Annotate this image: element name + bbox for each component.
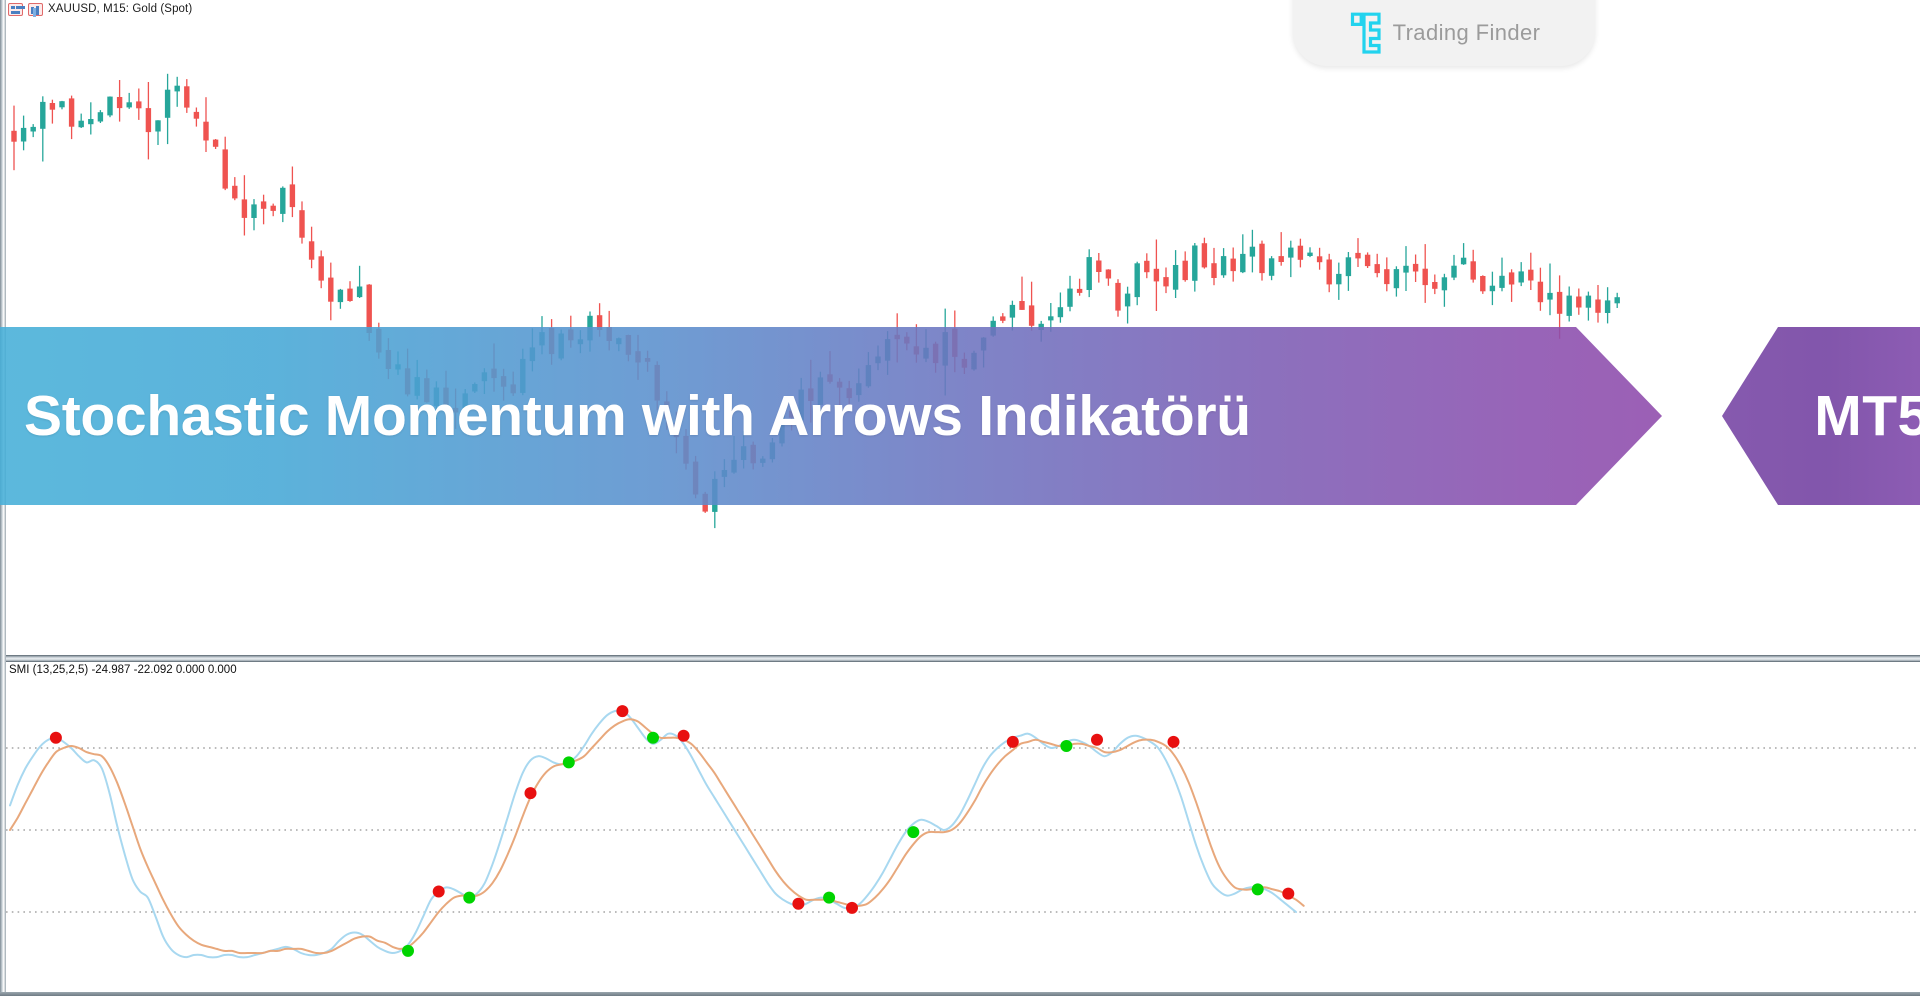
trading-finder-logo-plate[interactable]: Trading Finder [1293,0,1595,66]
smi-chart [6,676,1920,986]
screenshot-root: XAUUSD, M15: Gold (Spot) SMI (13,25,2,5)… [0,0,1920,996]
title-banner: Stochastic Momentum with Arrows Indikatö… [0,327,1920,505]
indicator-pane[interactable] [6,676,1920,986]
window-bottom-frame [0,992,1920,996]
trading-finder-logo-icon [1348,12,1382,54]
symbol-header-label: XAUUSD, M15: Gold (Spot) [48,3,192,15]
symbol-header: XAUUSD, M15: Gold (Spot) [8,1,192,17]
candlestick-icon[interactable] [28,3,43,16]
pane-separator[interactable] [6,655,1920,662]
platform-badge-label: MT5 [1722,327,1920,505]
indicator-label: SMI (13,25,2,5) -24.987 -22.092 0.000 0.… [9,664,237,676]
banner-title-text: Stochastic Momentum with Arrows Indikatö… [24,327,1584,505]
chart-window-icon[interactable] [8,3,23,16]
trading-finder-logo-text: Trading Finder [1393,20,1541,46]
